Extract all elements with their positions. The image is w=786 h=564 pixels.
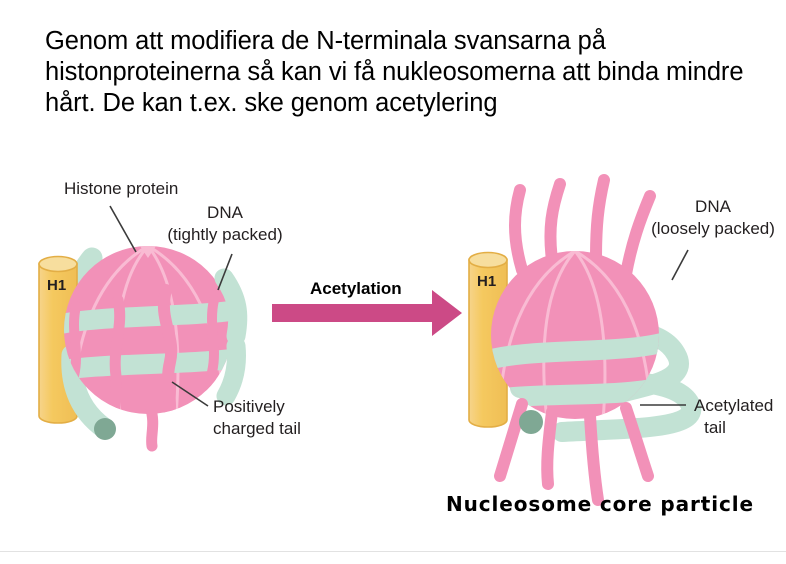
histone-leader-line xyxy=(110,206,136,252)
acetylation-label: Acetylation xyxy=(310,279,402,298)
h1-label-right: H1 xyxy=(477,273,496,290)
dna-tightly-label-line1: DNA xyxy=(207,203,244,222)
figure-caption: Nucleosome core particle xyxy=(446,492,754,516)
dna-end-cap-right xyxy=(519,410,543,434)
acetylation-arrow-group: Acetylation xyxy=(272,279,462,336)
left-nucleosome-group: H1 xyxy=(39,179,301,446)
dna-loosely-leader-line xyxy=(672,250,688,280)
acetylated-tail-label-line2: tail xyxy=(704,418,726,437)
bottom-divider xyxy=(0,551,786,552)
positively-charged-tail-line1: Positively xyxy=(213,397,285,416)
nucleosome-acetylation-figure: H1 xyxy=(0,150,786,550)
positively-charged-tail-line2: charged tail xyxy=(213,419,301,438)
right-nucleosome-group: H1 xyxy=(469,180,775,500)
slide-canvas: Genom att modifiera de N-terminala svans… xyxy=(0,0,786,564)
slide-heading: Genom att modifiera de N-terminala svans… xyxy=(45,26,755,119)
histone-tail-bottom-left xyxy=(150,406,153,446)
acetylated-tail-label-line1: Acetylated xyxy=(694,396,773,415)
right-panel-labels: DNA (loosely packed) Acetylated tail xyxy=(640,197,775,437)
dna-tightly-label-line2: (tightly packed) xyxy=(167,225,282,244)
h1-label-left: H1 xyxy=(47,277,66,294)
dna-loosely-label-line2: (loosely packed) xyxy=(651,219,775,238)
dna-loosely-label-line1: DNA xyxy=(695,197,732,216)
histone-protein-label: Histone protein xyxy=(64,179,178,198)
